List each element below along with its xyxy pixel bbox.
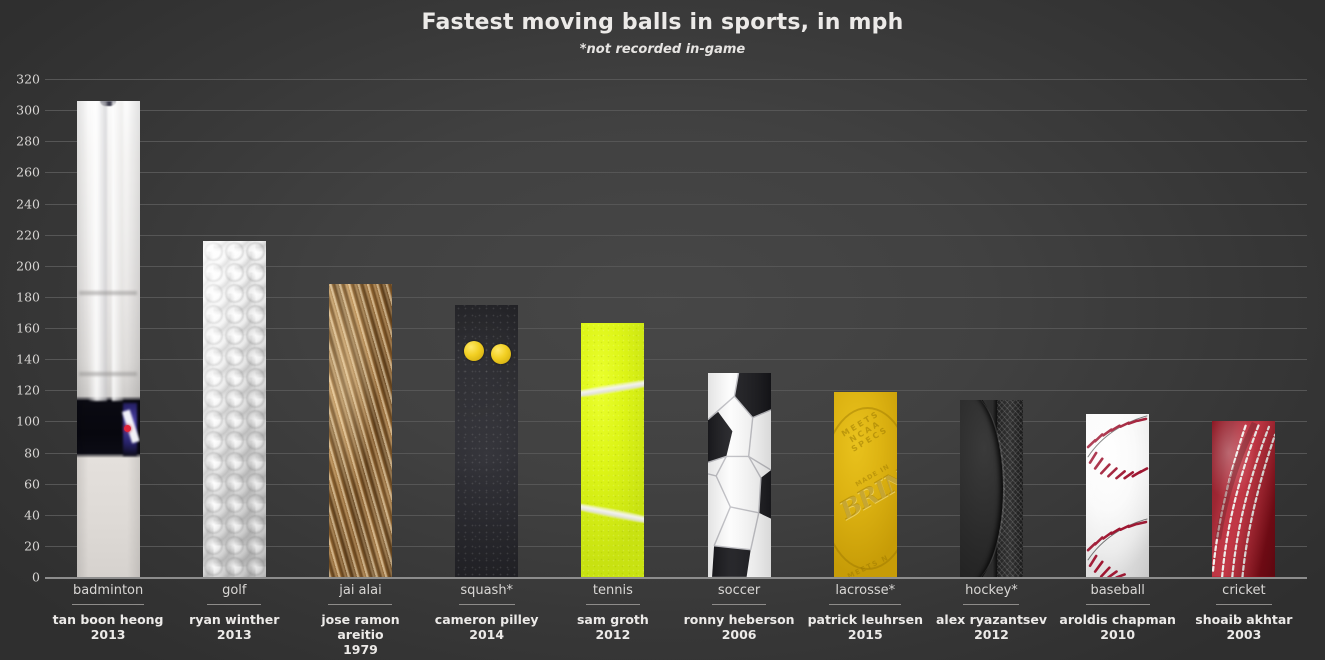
y-axis-tick-label: 20 (0, 538, 40, 553)
chart-root: Fastest moving balls in sports, in mph *… (0, 0, 1325, 660)
x-axis-group-hockey: hockey*alex ryazantsev2012 (928, 583, 1054, 642)
x-axis-group-lacrosse: lacrosse*patrick leuhrsen2015 (802, 583, 928, 642)
x-axis-group-cricket: cricketshoaib akhtar2003 (1181, 583, 1307, 642)
bar-badminton[interactable] (77, 101, 140, 577)
bar-soccer[interactable] (708, 373, 771, 577)
label-divider (1216, 604, 1272, 605)
label-divider (586, 604, 640, 605)
x-axis-labels: badmintontan boon heong2013golfryan wint… (45, 583, 1307, 658)
x-axis-group-badminton: badmintontan boon heong2013 (45, 583, 171, 642)
sport-label: soccer (676, 583, 802, 601)
label-divider (459, 604, 515, 605)
record-year: 2006 (676, 627, 802, 642)
y-axis-tick-label: 200 (0, 258, 40, 273)
record-year: 2014 (424, 627, 550, 642)
y-axis-tick-label: 120 (0, 383, 40, 398)
y-axis-tick-label: 80 (0, 445, 40, 460)
record-year: 2010 (1055, 627, 1181, 642)
x-axis-group-baseball: baseballaroldis chapman2010 (1055, 583, 1181, 642)
sport-label: lacrosse* (802, 583, 928, 601)
record-year: 2012 (550, 627, 676, 642)
baseball-texture (1086, 414, 1149, 577)
y-axis-tick-label: 60 (0, 476, 40, 491)
athlete-name: aroldis chapman (1055, 612, 1181, 627)
y-axis-tick-label: 180 (0, 289, 40, 304)
label-divider (72, 604, 144, 605)
record-year: 1979 (297, 642, 423, 657)
x-axis-group-tennis: tennissam groth2012 (550, 583, 676, 642)
tennis-ball-texture (581, 323, 644, 577)
y-axis-tick-label: 260 (0, 165, 40, 180)
x-axis-group-squash: squash*cameron pilley2014 (424, 583, 550, 642)
cricket-ball-texture (1212, 421, 1275, 577)
sport-label: squash* (424, 583, 550, 601)
bar-hockey[interactable] (960, 400, 1023, 577)
label-divider (1086, 604, 1150, 605)
y-axis-tick-label: 240 (0, 196, 40, 211)
record-year: 2012 (928, 627, 1054, 642)
athlete-name: patrick leuhrsen (802, 612, 928, 627)
y-axis-tick-label: 220 (0, 227, 40, 242)
athlete-name: ryan winther (171, 612, 297, 627)
y-axis-tick-label: 300 (0, 103, 40, 118)
bar-tennis[interactable] (581, 323, 644, 577)
hockey-puck-texture (960, 400, 1023, 577)
x-axis-group-jai-alai: jai alaijose ramon areitio1979 (297, 583, 423, 657)
bar-series: MEETS NCAA SPECSMADE INBRINEMEETS N (45, 79, 1307, 577)
golf-ball-texture (203, 241, 266, 577)
athlete-name: jose ramon areitio (297, 612, 423, 642)
label-divider (963, 604, 1019, 605)
sport-label: golf (171, 583, 297, 601)
record-year: 2015 (802, 627, 928, 642)
athlete-name: ronny heberson (676, 612, 802, 627)
x-axis-baseline (45, 577, 1307, 579)
y-axis-tick-label: 0 (0, 570, 40, 585)
athlete-name: sam groth (550, 612, 676, 627)
sport-label: cricket (1181, 583, 1307, 601)
record-year: 2003 (1181, 627, 1307, 642)
badminton-shuttlecock-texture (77, 101, 140, 577)
athlete-name: cameron pilley (424, 612, 550, 627)
lacrosse-ball-texture: MEETS NCAA SPECSMADE INBRINEMEETS N (834, 392, 897, 577)
label-divider (712, 604, 766, 605)
label-divider (207, 604, 261, 605)
label-divider (328, 604, 392, 605)
y-axis-tick-label: 160 (0, 321, 40, 336)
soccer-ball-texture (708, 373, 771, 577)
y-axis-tick-label: 40 (0, 507, 40, 522)
y-axis-tick-label: 280 (0, 134, 40, 149)
bar-squash[interactable] (455, 305, 518, 577)
label-divider (829, 604, 901, 605)
record-year: 2013 (45, 627, 171, 642)
sport-label: hockey* (928, 583, 1054, 601)
chart-title: Fastest moving balls in sports, in mph (0, 10, 1325, 35)
athlete-name: alex ryazantsev (928, 612, 1054, 627)
athlete-name: tan boon heong (45, 612, 171, 627)
y-axis-tick-label: 320 (0, 72, 40, 87)
y-axis-tick-label: 140 (0, 352, 40, 367)
record-year: 2013 (171, 627, 297, 642)
sport-label: tennis (550, 583, 676, 601)
bar-cricket[interactable] (1212, 421, 1275, 577)
bar-baseball[interactable] (1086, 414, 1149, 577)
sport-label: jai alai (297, 583, 423, 601)
y-axis-tick-label: 100 (0, 414, 40, 429)
athlete-name: shoaib akhtar (1181, 612, 1307, 627)
bar-lacrosse[interactable]: MEETS NCAA SPECSMADE INBRINEMEETS N (834, 392, 897, 577)
jai-alai-pelota-texture (329, 284, 392, 577)
bar-golf[interactable] (203, 241, 266, 577)
x-axis-group-soccer: soccerronny heberson2006 (676, 583, 802, 642)
sport-label: baseball (1055, 583, 1181, 601)
chart-subtitle: *not recorded in-game (0, 42, 1325, 57)
sport-label: badminton (45, 583, 171, 601)
bar-jai-alai[interactable] (329, 284, 392, 577)
y-axis-labels: 3203002802602402202001801601401201008060… (0, 79, 40, 577)
x-axis-group-golf: golfryan winther2013 (171, 583, 297, 642)
squash-ball-texture (455, 305, 518, 577)
